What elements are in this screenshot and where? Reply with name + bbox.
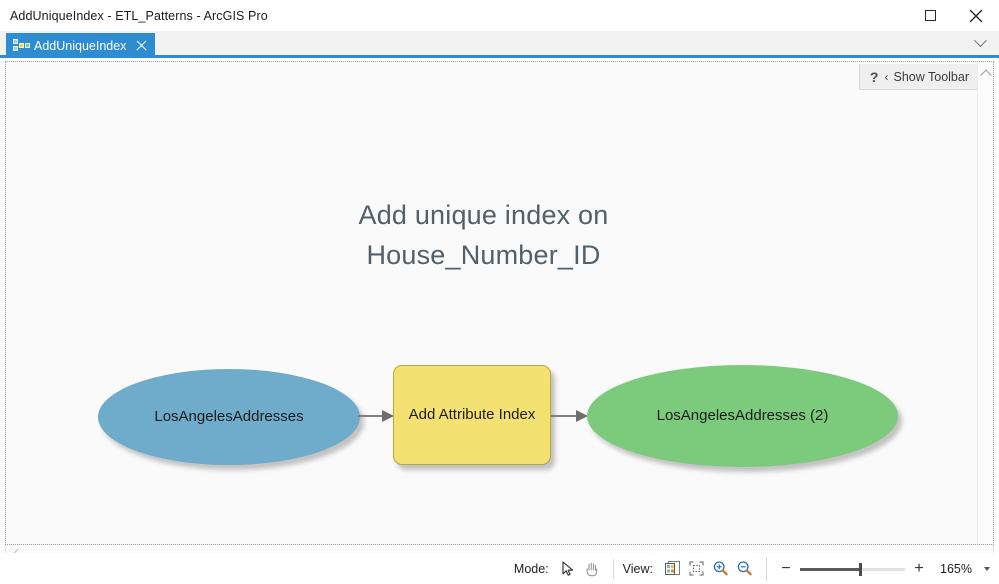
mode-label: Mode: [514,562,549,576]
diagram-title: Add unique index on House_Number_ID [6,195,961,275]
diagram-node-tool[interactable]: Add Attribute Index [393,365,551,465]
diagram-tab-icon [13,39,28,52]
node-label: LosAngelesAddresses [154,407,303,427]
pan-mode-button[interactable] [580,558,604,580]
status-separator [613,559,614,579]
view-label: View: [623,562,653,576]
connector-line [551,415,578,417]
diagram-node-source[interactable]: LosAngelesAddresses [98,369,360,465]
cursor-arrow-icon [561,561,575,577]
chevron-down-icon [974,34,987,47]
zoom-slider[interactable] [800,561,905,577]
zoom-out-icon [736,560,753,577]
maximize-icon [925,10,936,21]
close-icon[interactable] [135,39,148,52]
window-title: AddUniqueIndex - ETL_Patterns - ArcGIS P… [10,9,268,23]
tab-strip: AddUniqueIndex [0,31,999,58]
tab-adduniqueindex[interactable]: AddUniqueIndex [6,33,155,58]
pan-hand-icon [584,560,600,577]
caret-down-icon [984,567,990,571]
window-controls [907,0,999,31]
zoom-slider-fill [800,568,861,571]
view-buttons [660,557,756,581]
diagram-node-target[interactable]: LosAngelesAddresses (2) [587,365,898,467]
diagram-surface[interactable]: Add unique index on House_Number_ID LosA… [6,62,977,544]
tab-label: AddUniqueIndex [34,39,126,53]
title-bar: AddUniqueIndex - ETL_Patterns - ArcGIS P… [0,0,999,31]
chevron-up-icon [980,69,991,80]
scroll-up-button[interactable] [978,64,994,81]
close-button[interactable] [953,0,999,31]
zoom-out-button[interactable] [732,558,756,580]
node-label: Add Attribute Index [409,405,536,425]
select-mode-button[interactable] [556,558,580,580]
close-icon [969,9,983,23]
zoom-decrease-button[interactable]: − [779,562,793,576]
connector-line [358,415,384,417]
zoom-slider-thumb[interactable] [859,563,862,576]
mode-buttons [556,557,604,581]
node-label: LosAngelesAddresses (2) [657,406,829,426]
zoom-increase-button[interactable]: + [912,562,926,576]
show-toolbar-label: Show Toolbar [893,70,969,84]
show-toolbar-button[interactable]: ? ‹ Show Toolbar [859,64,977,90]
fit-to-window-button[interactable] [684,558,708,580]
tab-overflow-button[interactable] [969,31,991,55]
page-layout-icon [664,560,681,577]
zoom-in-icon [712,560,729,577]
vertical-scrollbar[interactable] [977,62,993,544]
fit-to-window-icon [688,560,705,577]
zoom-controls: − + 165% [766,557,993,581]
zoom-in-button[interactable] [708,558,732,580]
maximize-button[interactable] [907,0,953,31]
question-mark-icon[interactable]: ? [870,69,879,85]
zoom-dropdown-button[interactable] [981,559,993,579]
chevron-left-icon: ‹ [884,70,888,84]
page-layout-button[interactable] [660,558,684,580]
zoom-level-value: 165% [932,562,972,576]
diagram-canvas[interactable]: Add unique index on House_Number_ID LosA… [5,61,994,545]
status-bar: Mode: View: [0,553,999,584]
